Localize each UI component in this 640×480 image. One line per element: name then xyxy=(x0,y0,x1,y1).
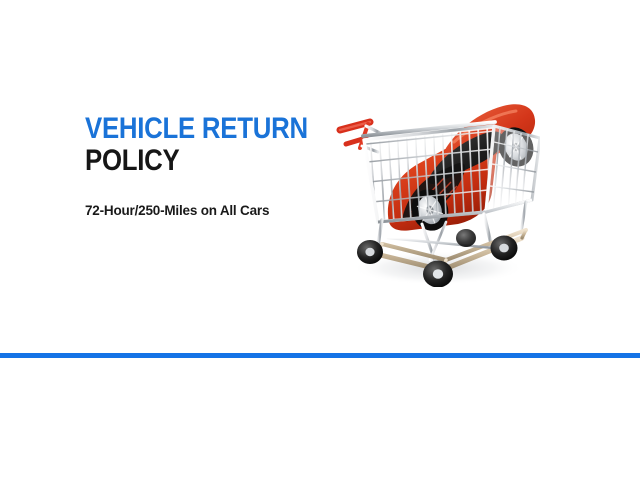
headline-line-1: VEHICLE RETURN xyxy=(85,113,291,144)
hero-section: VEHICLE RETURN POLICY 72-Hour/250-Miles … xyxy=(0,0,640,353)
footer-section: NO BRAINER CHECKOUT™ DGDG BE HAPPY xyxy=(0,358,640,480)
red-sports-car-in-shopping-cart-photo xyxy=(326,72,540,287)
subheadline: 72-Hour/250-Miles on All Cars xyxy=(85,203,269,218)
cart-front-face xyxy=(486,126,540,212)
headline-block: VEHICLE RETURN POLICY xyxy=(85,113,325,178)
slide-root: VEHICLE RETURN POLICY 72-Hour/250-Miles … xyxy=(0,0,640,480)
headline-line-2: POLICY xyxy=(85,144,291,178)
cart-handle xyxy=(340,122,382,152)
